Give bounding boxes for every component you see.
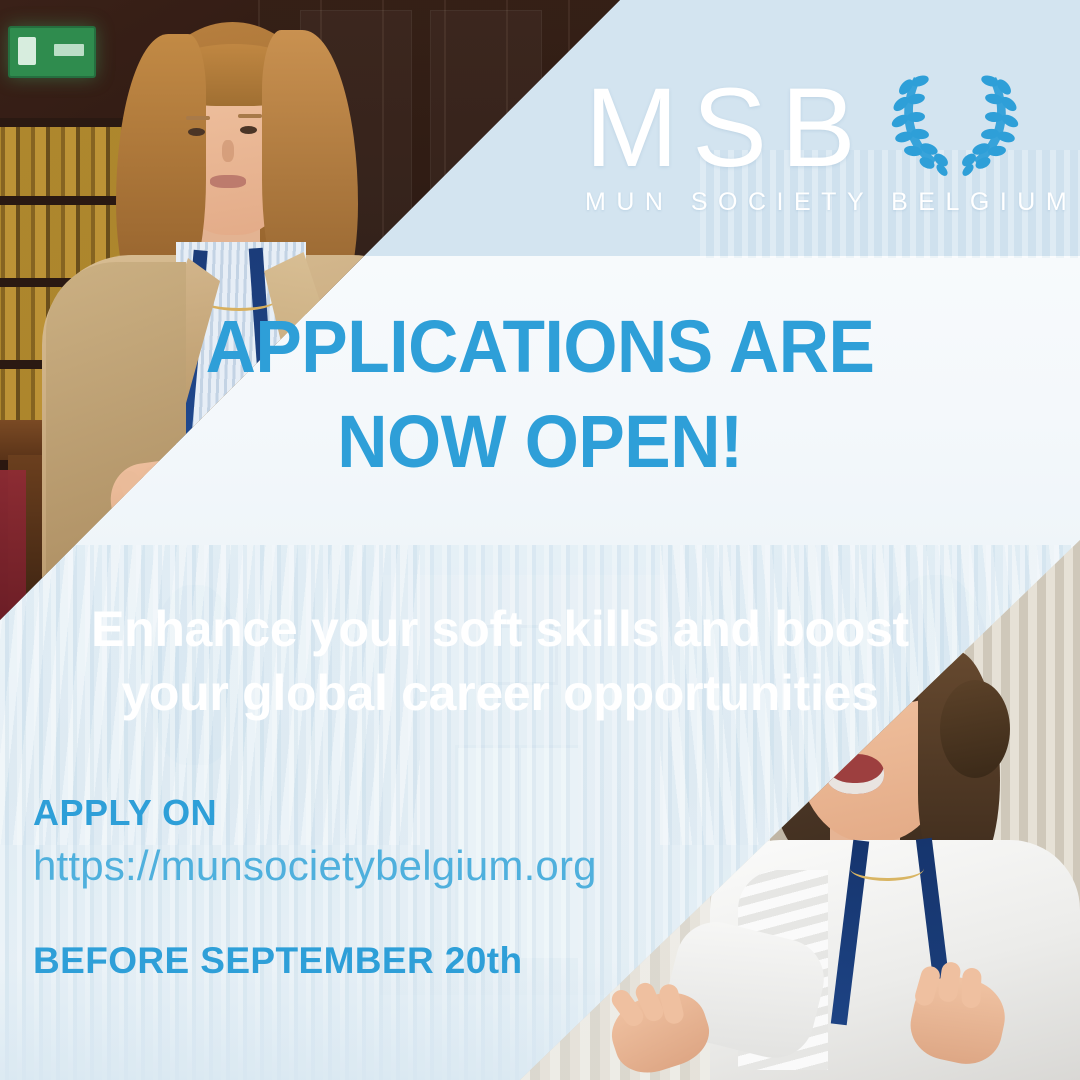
apply-block: APPLY ON https://munsocietybelgium.org	[33, 792, 597, 890]
laurel-wreath-icon	[884, 71, 1026, 182]
subheading-line-1: Enhance your soft skills and boost	[0, 598, 1000, 662]
msb-logo: MSB	[585, 72, 1065, 232]
exit-sign-icon	[8, 26, 96, 78]
poster-canvas: GREF	[0, 0, 1080, 1080]
apply-label: APPLY ON	[33, 792, 597, 834]
headline: APPLICATIONS ARE NOW OPEN!	[32, 300, 1047, 489]
headline-line-1: APPLICATIONS ARE	[32, 300, 1047, 395]
subheading-line-2: your global career opportunities	[0, 662, 1000, 726]
logo-wordmark: MSB	[585, 72, 870, 184]
headline-line-2: NOW OPEN!	[32, 395, 1047, 490]
subheading: Enhance your soft skills and boost your …	[0, 598, 1000, 725]
logo-subtitle: MUN SOCIETY BELGIUM	[585, 188, 1065, 217]
apply-url-link[interactable]: https://munsocietybelgium.org	[33, 842, 597, 890]
deadline-text: BEFORE SEPTEMBER 20th	[33, 940, 522, 982]
